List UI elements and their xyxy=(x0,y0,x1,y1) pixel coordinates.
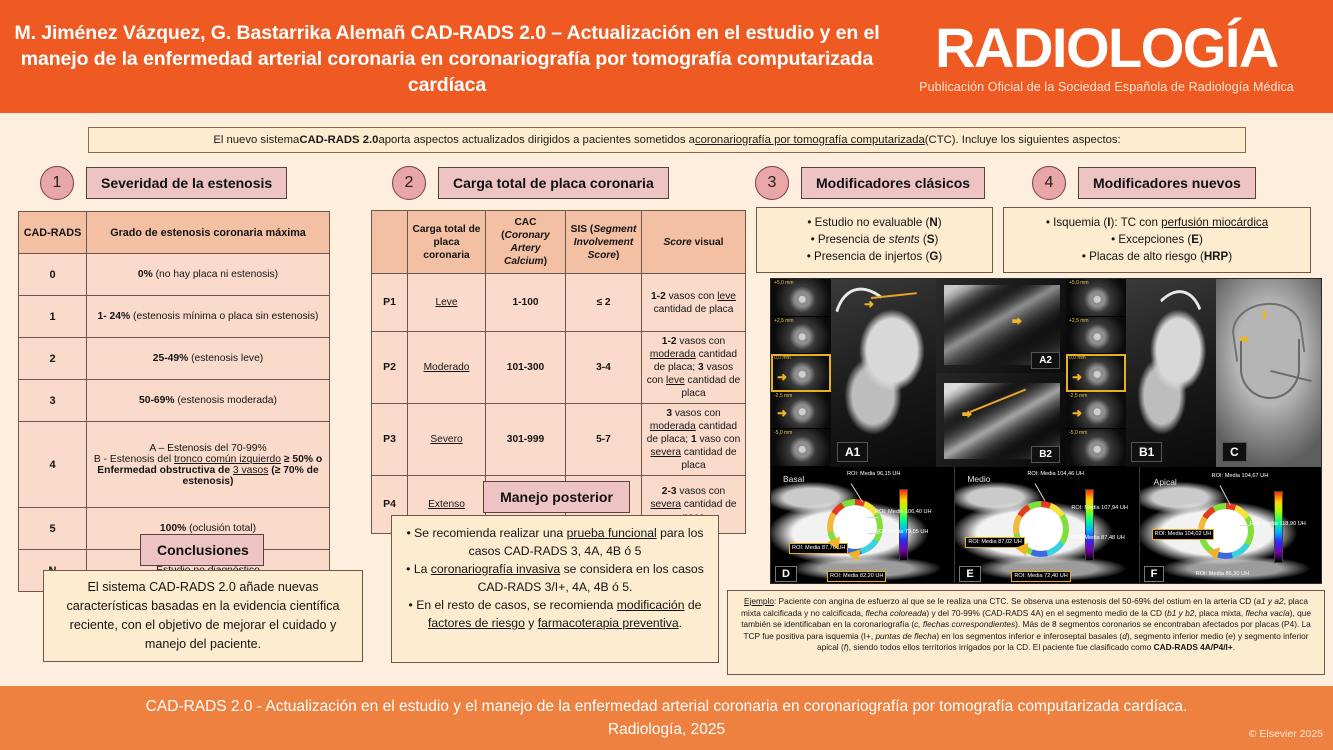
table-row: 1 1- 24% (estenosis mínima o placa sin e… xyxy=(19,296,330,338)
panel-label-a2: A2 xyxy=(1031,352,1060,369)
table-row: 4 A – Estenosis del 70-99% B - Estenosis… xyxy=(19,422,330,508)
perfusion-panel-e: Medio ROI: Media 104,46 UH ROI: Media 10… xyxy=(954,467,1138,584)
severity-desc-2: 25-49% (estenosis leve) xyxy=(87,338,330,380)
panel-label-c: C xyxy=(1222,442,1247,462)
severity-grade-0: 0 xyxy=(19,254,87,296)
ct-cross-section-strip-left: +5,0 mm +2,5 mm 0,0 mm➜ -2,5 mm➜ -5,0 mm xyxy=(771,279,831,467)
footer-copyright: © Elsevier 2025 xyxy=(1249,723,1323,746)
journal-logo: RADIOLOGÍA Publicación Oficial de la Soc… xyxy=(890,20,1333,94)
coronary-vessel-trace xyxy=(831,279,936,444)
example-caption-box: Ejemplo: Paciente con angina de esfuerzo… xyxy=(727,590,1325,675)
stenosis-arrow-icon: ⬆ xyxy=(1260,309,1269,322)
table-row: 2 25-49% (estenosis leve) xyxy=(19,338,330,380)
roi-label: ROI: Media 104,46 UH xyxy=(1027,471,1084,478)
cross-section-thumb: -2,5 mm➜ xyxy=(771,392,831,430)
severity-desc-1: 1- 24% (estenosis mínima o placa sin est… xyxy=(87,296,330,338)
coronary-vessel-trace xyxy=(1126,283,1216,434)
conclusiones-title: Conclusiones xyxy=(140,534,264,566)
panel-label-b1: B1 xyxy=(1131,442,1162,462)
burden-visual-p1: 1-2 vasos con leve cantidad de placa xyxy=(642,274,746,332)
plaque-arrow-icon: ➜ xyxy=(1072,370,1082,384)
roi-label: ROI: Media 104,67 UH xyxy=(1212,473,1269,480)
section-title-1: Severidad de la estenosis xyxy=(86,167,287,199)
journal-logo-wordmark: RADIOLOGÍA xyxy=(935,20,1278,76)
burden-sis-p3: 5-7 xyxy=(566,404,642,476)
roi-label: ROI: Media 118,90 UH xyxy=(1250,521,1306,528)
section-number-badge-2: 2 xyxy=(392,166,426,200)
section-title-3: Modificadores clásicos xyxy=(801,167,985,199)
burden-sis-p2: 3-4 xyxy=(566,332,642,404)
section-title-4: Modificadores nuevos xyxy=(1078,167,1256,199)
case-image-panel: +5,0 mm +2,5 mm 0,0 mm➜ -2,5 mm➜ -5,0 mm… xyxy=(770,278,1322,584)
severity-grade-2: 2 xyxy=(19,338,87,380)
journal-logo-subtitle: Publicación Oficial de la Sociedad Españ… xyxy=(919,80,1294,94)
intro-text-3: (CTC). Incluye los siguientes aspectos: xyxy=(925,134,1121,146)
intro-banner: El nuevo sistema CAD-RADS 2.0 aporta asp… xyxy=(88,127,1246,153)
ct-panel-a1: ➜ A1 xyxy=(831,279,936,467)
burden-col-header-visual: Score visual xyxy=(642,211,746,274)
plaque-arrow-icon: ➜ xyxy=(1072,406,1082,420)
burden-code-p3: P3 xyxy=(372,404,408,476)
burden-col-header-burden: Carga total de placa coronaria xyxy=(408,211,486,274)
list-item: Placas de alto riesgo (HRP) xyxy=(1012,248,1302,265)
intro-underline-ctc: coronariografía por tomografía computari… xyxy=(695,134,925,146)
roi-leader-line xyxy=(867,517,879,518)
roi-label-highlighted: ROI: Media 87,02 UH xyxy=(965,537,1024,548)
ct-panel-a2-b2: ⮕ A2 ⮕ B2 xyxy=(936,279,1066,467)
list-item: En el resto de casos, se recomienda modi… xyxy=(402,596,708,632)
stenosis-arrow-icon: ⮕ xyxy=(1239,331,1249,346)
cross-section-thumb: +5,0 mm xyxy=(771,279,831,317)
panel-label-f: F xyxy=(1144,566,1165,582)
list-item: Excepciones (E) xyxy=(1012,231,1302,248)
roi-label: ROI: Media 106,40 UH xyxy=(875,509,932,516)
section-header-1: 1 Severidad de la estenosis xyxy=(40,166,287,200)
ct-subpanel-a2: ⮕ A2 xyxy=(936,279,1066,373)
cross-section-thumb: +5,0 mm xyxy=(1066,279,1126,317)
severity-grade-3: 3 xyxy=(19,380,87,422)
table-row: 0 0% (no hay placa ni estenosis) xyxy=(19,254,330,296)
severity-grade-5: 5 xyxy=(19,508,87,550)
panel-label-b2: B2 xyxy=(1031,446,1060,463)
plaque-arrow-icon: ➜ xyxy=(777,406,787,420)
roi-label-highlighted: ROI: Media 72,40 UH xyxy=(1011,571,1070,582)
manejo-posterior-title: Manejo posterior xyxy=(483,481,630,513)
burden-visual-p3: 3 vasos con moderada cantidad de placa; … xyxy=(642,404,746,476)
burden-col-header-sis: SIS (Segment Involvement Score) xyxy=(566,211,642,274)
ct-panel-b1: B1 xyxy=(1126,279,1216,467)
perfusion-colorbar xyxy=(1085,489,1094,561)
roi-label: ROI: Media 86,30 UH xyxy=(1196,571,1249,578)
burden-col-header-code xyxy=(372,211,408,274)
burden-sis-p1: ≤ 2 xyxy=(566,274,642,332)
severity-desc-3: 50-69% (estenosis moderada) xyxy=(87,380,330,422)
plaque-arrow-icon: ⮕ xyxy=(1012,313,1022,328)
list-item: Presencia de stents (S) xyxy=(765,231,984,248)
classic-modifiers-box: Estudio no evaluable (N) Presencia de st… xyxy=(756,207,993,273)
cross-section-thumb-highlighted: 0,0 mm➜ xyxy=(1066,354,1126,392)
severity-desc-4: A – Estenosis del 70-99% B - Estenosis d… xyxy=(87,422,330,508)
ct-panel-c-invasive-angiography: ⬆ ⮕ C xyxy=(1216,279,1322,467)
conclusiones-text: El sistema CAD-RADS 2.0 añade nuevas car… xyxy=(54,578,352,654)
panel-label-e: E xyxy=(959,566,980,582)
panel-label-d: D xyxy=(775,566,797,582)
list-item: Se recomienda realizar una prueba funcio… xyxy=(402,524,708,560)
roi-label-highlighted: ROI: Media 104,02 UH xyxy=(1152,529,1215,540)
table-row: P1 Leve 1-100 ≤ 2 1-2 vasos con leve can… xyxy=(372,274,746,332)
burden-cac-p3: 301-999 xyxy=(486,404,566,476)
ct-cross-section-strip-right: +5,0 mm +2,5 mm 0,0 mm➜ -2,5 mm➜ -5,0 mm xyxy=(1066,279,1126,467)
burden-level-p3: Severo xyxy=(408,404,486,476)
table-row: P2 Moderado 101-300 3-4 1-2 vasos con mo… xyxy=(372,332,746,404)
burden-code-p1: P1 xyxy=(372,274,408,332)
table-row: 3 50-69% (estenosis moderada) xyxy=(19,380,330,422)
list-item: La coronariografía invasiva se considera… xyxy=(402,560,708,596)
severity-grade-4: 4 xyxy=(19,422,87,508)
severity-grade-1: 1 xyxy=(19,296,87,338)
cross-section-thumb: +2,5 mm xyxy=(771,317,831,355)
perfusion-panel-d: Basal ROI: Media 96,15 UH ROI: Media 106… xyxy=(771,467,954,584)
conclusiones-box: El sistema CAD-RADS 2.0 añade nuevas car… xyxy=(43,570,363,662)
poster-root: M. Jiménez Vázquez, G. Bastarrika Alemañ… xyxy=(0,0,1333,750)
plaque-arrow-icon: ⮕ xyxy=(962,406,972,421)
new-modifiers-box: Isquemia (I): TC con perfusión miocárdic… xyxy=(1003,207,1311,273)
burden-visual-p2: 1-2 vasos con moderada cantidad de placa… xyxy=(642,332,746,404)
section-header-3: 3 Modificadores clásicos xyxy=(755,166,985,200)
burden-level-p2: Moderado xyxy=(408,332,486,404)
intro-text-1: El nuevo sistema xyxy=(213,134,299,146)
perfusion-image-row: Basal ROI: Media 96,15 UH ROI: Media 106… xyxy=(771,467,1322,584)
poster-footer: CAD-RADS 2.0 - Actualización en el estud… xyxy=(0,686,1333,750)
section-number-badge-4: 4 xyxy=(1032,166,1066,200)
roi-leader-line xyxy=(1240,525,1250,526)
cross-section-thumb: -2,5 mm➜ xyxy=(1066,392,1126,430)
perfusion-colorbar xyxy=(899,489,908,561)
section-header-4: 4 Modificadores nuevos xyxy=(1032,166,1256,200)
ct-image-row: +5,0 mm +2,5 mm 0,0 mm➜ -2,5 mm➜ -5,0 mm… xyxy=(771,279,1322,467)
roi-label: ROI: Media 96,15 UH xyxy=(847,471,900,478)
perfusion-level-label-d: Basal xyxy=(783,474,804,484)
ct-subpanel-b2: ⮕ B2 xyxy=(936,373,1066,467)
intro-bold-cadrads: CAD-RADS 2.0 xyxy=(299,134,378,146)
roi-label: ROI: Media 87,48 UH xyxy=(1071,535,1124,542)
section-number-badge-3: 3 xyxy=(755,166,789,200)
burden-cac-p1: 1-100 xyxy=(486,274,566,332)
plaque-arrow-icon: ➜ xyxy=(864,297,874,311)
table-header-row: Carga total de placa coronaria CAC (Coro… xyxy=(372,211,746,274)
table-row: P3 Severo 301-999 5-7 3 vasos con modera… xyxy=(372,404,746,476)
perfusion-panel-f: Apical ROI: Media 104,67 UH ROI: Media 1… xyxy=(1139,467,1322,584)
severity-col-header-grade: Grado de estenosis coronaria máxima xyxy=(87,212,330,254)
perfusion-level-label-e: Medio xyxy=(967,474,990,484)
list-item: Isquemia (I): TC con perfusión miocárdic… xyxy=(1012,214,1302,231)
page-title: M. Jiménez Vázquez, G. Bastarrika Alemañ… xyxy=(0,16,890,98)
cross-section-thumb: +2,5 mm xyxy=(1066,317,1126,355)
burden-code-p2: P2 xyxy=(372,332,408,404)
section-header-2: 2 Carga total de placa coronaria xyxy=(392,166,669,200)
perfusion-level-label-f: Apical xyxy=(1154,477,1177,487)
manejo-posterior-box: Se recomienda realizar una prueba funcio… xyxy=(391,515,719,663)
example-label: Ejemplo xyxy=(744,596,774,606)
list-item: Presencia de injertos (G) xyxy=(765,248,984,265)
roi-leader-line xyxy=(867,533,879,534)
intro-text-2: aporta aspectos actualizados dirigidos a… xyxy=(378,134,695,146)
table-header-row: CAD-RADS Grado de estenosis coronaria má… xyxy=(19,212,330,254)
roi-label-highlighted: ROI: Media 82,20 UH xyxy=(827,571,886,582)
roi-label: ROI: Media 79,05 UH xyxy=(875,529,928,536)
poster-header: M. Jiménez Vázquez, G. Bastarrika Alemañ… xyxy=(0,0,1333,113)
list-item: Estudio no evaluable (N) xyxy=(765,214,984,231)
severity-col-header-cadrads: CAD-RADS xyxy=(19,212,87,254)
footer-citation-line2: Radiología, 2025 xyxy=(608,718,725,741)
burden-col-header-cac: CAC (Coronary Artery Calcium) xyxy=(486,211,566,274)
cross-section-thumb-highlighted: 0,0 mm➜ xyxy=(771,354,831,392)
cross-section-thumb: -5,0 mm xyxy=(771,429,831,467)
severity-desc-0: 0% (no hay placa ni estenosis) xyxy=(87,254,330,296)
section-number-badge-1: 1 xyxy=(40,166,74,200)
burden-cac-p2: 101-300 xyxy=(486,332,566,404)
burden-level-p1: Leve xyxy=(408,274,486,332)
panel-label-a1: A1 xyxy=(837,442,868,462)
roi-label: ROI: Media 107,94 UH xyxy=(1071,505,1128,512)
section-title-2: Carga total de placa coronaria xyxy=(438,167,669,199)
plaque-arrow-icon: ➜ xyxy=(777,370,787,384)
cross-section-thumb: -5,0 mm xyxy=(1066,429,1126,467)
footer-citation-line1: CAD-RADS 2.0 - Actualización en el estud… xyxy=(146,695,1188,718)
